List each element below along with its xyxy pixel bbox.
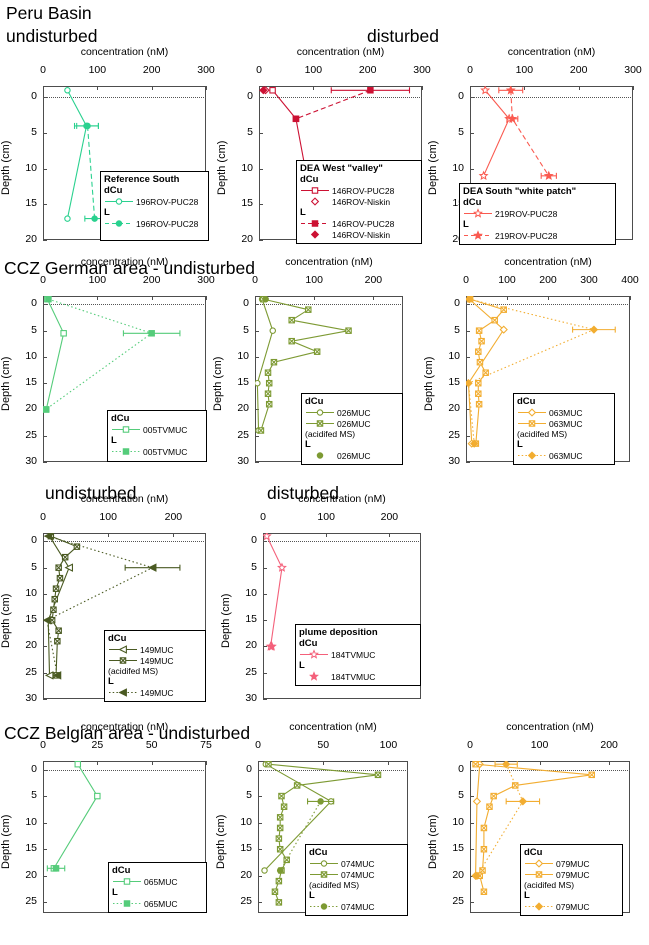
y-tick-mark	[255, 462, 259, 463]
y-tick-label: 10	[233, 587, 257, 599]
y-tick-label: 10	[440, 816, 464, 828]
y-tick-label: 30	[13, 692, 37, 704]
legend-entry: 063MUC	[517, 418, 611, 429]
x-tick-label: 300	[400, 64, 444, 76]
legend-entry-label: 149MUC	[138, 688, 174, 698]
legend-entry-label: 005TVMUC	[141, 425, 187, 435]
y-tick-mark	[43, 462, 47, 463]
legend-group-header: L	[463, 219, 612, 230]
legend-group-header: L	[517, 439, 611, 450]
y-tick-mark	[263, 699, 267, 700]
x-tick-label: 100	[86, 511, 130, 523]
legend-entry: 065MUC	[112, 876, 203, 887]
legend-entry: 074MUC	[309, 869, 404, 880]
legend-entry: 065MUC	[112, 898, 203, 909]
legend-marker-icon	[108, 687, 138, 698]
x-tick-label: 100	[75, 64, 119, 76]
y-tick-label: 30	[13, 455, 37, 467]
legend-note: (acidifed MS)	[524, 880, 619, 890]
sediment-water-interface-line	[470, 97, 633, 98]
legend-entry-label: 196ROV-PUC28	[134, 219, 198, 229]
x-tick-label: 0	[21, 739, 65, 751]
y-tick-label: 15	[440, 842, 464, 854]
x-tick-label: 100	[366, 739, 410, 751]
x-tick-label: 200	[367, 511, 411, 523]
legend-entry-label: 079MUC	[554, 902, 590, 912]
legend-entry-label: 074MUC	[339, 859, 375, 869]
legend-marker-icon	[517, 407, 547, 418]
legend-entry-label: 063MUC	[547, 451, 583, 461]
legend-group-header: L	[305, 439, 399, 450]
legend-marker-icon	[300, 229, 330, 240]
y-tick-label: 15	[436, 376, 460, 388]
y-tick-mark	[259, 240, 263, 241]
legend-marker-icon	[305, 407, 335, 418]
legend-entry-label: 146ROV-Niskin	[330, 197, 390, 207]
legend-marker-icon	[300, 218, 330, 229]
y-tick-label: 15	[225, 376, 249, 388]
y-tick-label: 5	[229, 126, 253, 138]
x-tick-label: 0	[21, 274, 65, 286]
x-axis-title: concentration (nM)	[3, 46, 246, 58]
y-tick-label: 20	[229, 233, 253, 245]
legend-group-header: dCu	[305, 396, 399, 407]
y-tick-label: 15	[228, 842, 252, 854]
x-tick-mark	[206, 86, 207, 90]
legend-title: DEA West "valley"	[300, 163, 418, 174]
y-tick-label: 5	[436, 324, 460, 336]
legend-entry-label: 005TVMUC	[141, 447, 187, 457]
legend-group-header: L	[108, 676, 202, 687]
legend-entry: 079MUC	[524, 869, 619, 880]
legend-entry-label: 146ROV-PUC28	[330, 219, 394, 229]
legend-marker-icon	[112, 876, 142, 887]
x-tick-label: 0	[237, 64, 281, 76]
y-tick-label: 5	[13, 561, 37, 573]
legend-entry-label: 026MUC	[335, 419, 371, 429]
legend-group-header: L	[104, 207, 205, 218]
sediment-water-interface-line	[258, 770, 408, 771]
legend-group-header: L	[112, 887, 203, 898]
x-tick-label: 0	[21, 511, 65, 523]
y-tick-label: 30	[225, 455, 249, 467]
x-tick-mark	[206, 296, 207, 300]
y-tick-label: 0	[440, 90, 464, 102]
legend-note: (acidifed MS)	[517, 429, 611, 439]
x-tick-label: 50	[301, 739, 345, 751]
legend-entry: 063MUC	[517, 450, 611, 461]
legend-entry: 146ROV-PUC28	[300, 185, 418, 196]
legend-marker-icon	[104, 196, 134, 207]
legend-group-header: dCu	[111, 413, 203, 424]
y-axis-title: Depth (cm)	[216, 141, 228, 195]
legend-title: DEA South "white patch"	[463, 186, 612, 197]
y-tick-label: 25	[13, 895, 37, 907]
x-tick-label: 0	[448, 739, 492, 751]
x-axis-title: concentration (nM)	[219, 46, 462, 58]
x-tick-label: 200	[130, 64, 174, 76]
y-tick-label: 0	[440, 763, 464, 775]
legend-entry-label: 149MUC	[138, 645, 174, 655]
legend-marker-icon	[111, 424, 141, 435]
y-tick-mark	[43, 240, 47, 241]
y-tick-label: 0	[229, 90, 253, 102]
x-tick-label: 300	[611, 64, 649, 76]
legend-entry: 219ROV-PUC28	[463, 230, 612, 241]
x-tick-label: 300	[567, 274, 611, 286]
y-tick-label: 0	[436, 297, 460, 309]
sediment-water-interface-line	[43, 770, 206, 771]
y-tick-label: 25	[13, 429, 37, 441]
y-tick-label: 5	[13, 126, 37, 138]
legend-entry: 079MUC	[524, 858, 619, 869]
legend-note: (acidifed MS)	[309, 880, 404, 890]
legend-group-header: L	[299, 660, 417, 671]
legend-group-header: dCu	[463, 197, 612, 208]
y-tick-label: 20	[225, 402, 249, 414]
y-axis-title: Depth (cm)	[427, 815, 439, 869]
legend-entry: 146ROV-Niskin	[300, 229, 418, 240]
x-tick-label: 100	[518, 739, 562, 751]
x-tick-label: 50	[130, 739, 174, 751]
legend-entry-label: 146ROV-Niskin	[330, 230, 390, 240]
legend-marker-icon	[300, 196, 330, 207]
y-tick-label: 20	[436, 402, 460, 414]
x-tick-label: 300	[184, 274, 228, 286]
x-tick-label: 200	[346, 64, 390, 76]
y-tick-label: 20	[13, 639, 37, 651]
legend-marker-icon	[305, 450, 335, 461]
y-tick-label: 25	[440, 895, 464, 907]
y-axis-title: Depth (cm)	[423, 357, 435, 411]
y-tick-label: 15	[13, 613, 37, 625]
legend-marker-icon	[108, 655, 138, 666]
legend-title: plume deposition	[299, 627, 417, 638]
y-tick-label: 15	[229, 197, 253, 209]
y-tick-label: 25	[436, 429, 460, 441]
y-tick-label: 25	[225, 429, 249, 441]
y-tick-label: 0	[13, 297, 37, 309]
legend-entry: 005TVMUC	[111, 446, 203, 457]
legend-entry: 026MUC	[305, 418, 399, 429]
legend-marker-icon	[524, 869, 554, 880]
y-tick-label: 5	[440, 789, 464, 801]
y-tick-label: 25	[228, 895, 252, 907]
legend-ccz-belgian-079muc: dCu079MUC079MUC(acidifed MS)L079MUC	[520, 844, 623, 916]
legend-marker-icon	[463, 208, 493, 219]
legend-marker-icon	[309, 901, 339, 912]
y-tick-label: 10	[13, 587, 37, 599]
y-tick-label: 20	[228, 869, 252, 881]
legend-entry: 184TVMUC	[299, 649, 417, 660]
y-tick-label: 20	[440, 869, 464, 881]
x-tick-label: 0	[21, 64, 65, 76]
legend-marker-icon	[517, 450, 547, 461]
legend-entry: 026MUC	[305, 407, 399, 418]
x-axis-title: concentration (nM)	[3, 721, 246, 733]
x-tick-label: 200	[351, 274, 395, 286]
x-tick-label: 100	[75, 274, 119, 286]
sediment-water-interface-line	[470, 770, 630, 771]
y-axis-title: Depth (cm)	[427, 141, 439, 195]
x-tick-label: 0	[233, 274, 277, 286]
sediment-water-interface-line	[255, 304, 403, 305]
y-axis-title: Depth (cm)	[212, 357, 224, 411]
y-tick-label: 5	[228, 789, 252, 801]
y-tick-label: 10	[13, 816, 37, 828]
legend-entry-label: 079MUC	[554, 870, 590, 880]
y-tick-label: 25	[233, 666, 257, 678]
y-tick-label: 15	[233, 613, 257, 625]
x-tick-label: 0	[241, 511, 285, 523]
y-tick-label: 15	[13, 842, 37, 854]
y-tick-label: 10	[13, 162, 37, 174]
legend-marker-icon	[463, 230, 493, 241]
y-tick-label: 0	[228, 763, 252, 775]
legend-entry: 149MUC	[108, 655, 202, 666]
x-tick-label: 200	[587, 739, 631, 751]
x-tick-label: 25	[75, 739, 119, 751]
y-axis-title: Depth (cm)	[220, 594, 232, 648]
legend-marker-icon	[517, 418, 547, 429]
legend-marker-icon	[299, 671, 329, 682]
legend-entry-label: 065MUC	[142, 899, 178, 909]
x-tick-label: 100	[502, 64, 546, 76]
x-tick-label: 0	[444, 274, 488, 286]
legend-ccz-german-005tvmuc: dCu005TVMUCL005TVMUC	[107, 410, 207, 462]
y-tick-label: 10	[225, 350, 249, 362]
x-axis-title: concentration (nM)	[430, 721, 649, 733]
x-tick-label: 300	[184, 64, 228, 76]
y-tick-label: 10	[436, 350, 460, 362]
y-tick-label: 0	[233, 534, 257, 546]
sediment-water-interface-line	[466, 304, 630, 305]
legend-entry: 074MUC	[309, 901, 404, 912]
y-tick-label: 5	[13, 789, 37, 801]
legend-entry: 063MUC	[517, 407, 611, 418]
legend-entry: 146ROV-PUC28	[300, 218, 418, 229]
legend-entry: 146ROV-Niskin	[300, 196, 418, 207]
legend-marker-icon	[299, 649, 329, 660]
x-tick-label: 200	[526, 274, 570, 286]
y-tick-label: 15	[13, 197, 37, 209]
x-tick-label: 200	[130, 274, 174, 286]
y-tick-label: 10	[13, 350, 37, 362]
legend-entry-label: 063MUC	[547, 419, 583, 429]
x-tick-label: 0	[448, 64, 492, 76]
legend-entry: 026MUC	[305, 450, 399, 461]
x-tick-mark	[206, 761, 207, 765]
legend-entry-label: 026MUC	[335, 408, 371, 418]
legend-entry: 005TVMUC	[111, 424, 203, 435]
sediment-water-interface-line	[43, 97, 206, 98]
x-tick-label: 100	[292, 274, 336, 286]
sediment-water-interface-line	[43, 541, 206, 542]
sediment-water-interface-line	[263, 541, 421, 542]
y-tick-label: 10	[229, 162, 253, 174]
legend-entry-label: 184TVMUC	[329, 672, 375, 682]
y-axis-title: Depth (cm)	[0, 357, 12, 411]
legend-entry-label: 219ROV-PUC28	[493, 231, 557, 241]
legend-note: (acidifed MS)	[305, 429, 399, 439]
legend-ccz-german-026muc: dCu026MUC026MUC(acidifed MS)L026MUC	[301, 393, 403, 465]
x-tick-mark	[633, 86, 634, 90]
x-axis-title: concentration (nM)	[215, 256, 443, 268]
legend-marker-icon	[300, 185, 330, 196]
x-tick-label: 200	[557, 64, 601, 76]
x-tick-label: 0	[236, 739, 280, 751]
legend-marker-icon	[111, 446, 141, 457]
y-tick-label: 10	[228, 816, 252, 828]
legend-entry-label: 149MUC	[138, 656, 174, 666]
x-tick-label: 100	[485, 274, 529, 286]
legend-entry: 219ROV-PUC28	[463, 208, 612, 219]
legend-group-header: L	[309, 890, 404, 901]
x-axis-title: concentration (nM)	[430, 46, 649, 58]
legend-entry: 184TVMUC	[299, 671, 417, 682]
y-tick-label: 25	[13, 666, 37, 678]
y-axis-title: Depth (cm)	[0, 815, 12, 869]
x-axis-title: concentration (nM)	[218, 721, 448, 733]
y-tick-label: 10	[440, 162, 464, 174]
y-tick-label: 30	[233, 692, 257, 704]
x-tick-label: 75	[184, 739, 228, 751]
y-axis-title: Depth (cm)	[215, 815, 227, 869]
legend-ccz-german-184tvmuc: plume depositiondCu184TVMUCL184TVMUC	[295, 624, 421, 686]
legend-entry-label: 219ROV-PUC28	[493, 209, 557, 219]
legend-group-header: dCu	[309, 847, 404, 858]
legend-marker-icon	[309, 869, 339, 880]
legend-entry-label: 074MUC	[339, 870, 375, 880]
legend-ccz-belgian-074muc: dCu074MUC074MUC(acidifed MS)L074MUC	[305, 844, 408, 916]
x-tick-mark	[630, 296, 631, 300]
y-tick-label: 20	[13, 402, 37, 414]
x-tick-label: 100	[304, 511, 348, 523]
legend-ccz-german-149muc: dCu149MUC149MUC(acidifed MS)L149MUC	[104, 630, 206, 702]
x-tick-label: 200	[151, 511, 195, 523]
y-tick-mark	[43, 699, 47, 700]
y-axis-title: Depth (cm)	[0, 594, 12, 648]
sediment-water-interface-line	[259, 97, 422, 98]
legend-entry: 074MUC	[309, 858, 404, 869]
legend-group-header: dCu	[104, 185, 205, 196]
legend-entry-label: 065MUC	[142, 877, 178, 887]
x-axis-title: concentration (nM)	[426, 256, 649, 268]
legend-entry-label: 079MUC	[554, 859, 590, 869]
legend-entry-label: 026MUC	[335, 451, 371, 461]
y-tick-label: 5	[440, 126, 464, 138]
legend-group-header: L	[300, 207, 418, 218]
y-tick-label: 5	[225, 324, 249, 336]
legend-peru-dea-south-white-patch: DEA South "white patch"dCu219ROV-PUC28L2…	[459, 183, 616, 245]
legend-marker-icon	[104, 218, 134, 229]
y-tick-label: 0	[13, 90, 37, 102]
legend-marker-icon	[524, 858, 554, 869]
y-tick-label: 0	[13, 534, 37, 546]
legend-entry: 196ROV-PUC28	[104, 218, 205, 229]
x-axis-title: concentration (nM)	[3, 493, 246, 505]
legend-peru-dea-west-valley: DEA West "valley"dCu146ROV-PUC28146ROV-N…	[296, 160, 422, 244]
legend-group-header: L	[111, 435, 203, 446]
legend-group-header: dCu	[108, 633, 202, 644]
legend-marker-icon	[309, 858, 339, 869]
x-axis-title: concentration (nM)	[223, 493, 461, 505]
legend-marker-icon	[108, 644, 138, 655]
y-tick-mark	[466, 462, 470, 463]
sediment-water-interface-line	[43, 304, 206, 305]
y-axis-title: Depth (cm)	[0, 141, 12, 195]
y-tick-label: 0	[225, 297, 249, 309]
legend-entry-label: 063MUC	[547, 408, 583, 418]
legend-entry: 149MUC	[108, 687, 202, 698]
column-title-undisturbed-row1: undisturbed	[6, 26, 97, 46]
y-tick-label: 15	[13, 376, 37, 388]
legend-entry-label: 074MUC	[339, 902, 375, 912]
legend-title: Reference South	[104, 174, 205, 185]
legend-entry-label: 196ROV-PUC28	[134, 197, 198, 207]
legend-group-header: dCu	[299, 638, 417, 649]
section-title-peru-basin: Peru Basin	[6, 3, 92, 23]
legend-group-header: dCu	[112, 865, 203, 876]
legend-marker-icon	[305, 418, 335, 429]
y-tick-label: 0	[13, 763, 37, 775]
x-tick-label: 400	[608, 274, 649, 286]
legend-entry-label: 184TVMUC	[329, 650, 375, 660]
y-tick-label: 20	[13, 233, 37, 245]
legend-ccz-belgian-065muc: dCu065MUCL065MUC	[108, 862, 207, 913]
y-tick-label: 30	[436, 455, 460, 467]
legend-entry: 196ROV-PUC28	[104, 196, 205, 207]
legend-peru-reference-south: Reference SouthdCu196ROV-PUC28L196ROV-PU…	[100, 171, 209, 241]
legend-group-header: dCu	[524, 847, 619, 858]
y-tick-label: 5	[233, 561, 257, 573]
legend-group-header: dCu	[300, 174, 418, 185]
legend-note: (acidifed MS)	[108, 666, 202, 676]
legend-marker-icon	[524, 901, 554, 912]
legend-ccz-german-063muc: dCu063MUC063MUC(acidifed MS)L063MUC	[513, 393, 615, 465]
legend-entry-label: 146ROV-PUC28	[330, 186, 394, 196]
x-tick-label: 100	[291, 64, 335, 76]
x-axis-title: concentration (nM)	[3, 256, 246, 268]
y-tick-label: 20	[13, 869, 37, 881]
legend-entry: 079MUC	[524, 901, 619, 912]
legend-group-header: L	[524, 890, 619, 901]
legend-marker-icon	[112, 898, 142, 909]
x-tick-mark	[422, 86, 423, 90]
y-tick-label: 20	[233, 639, 257, 651]
legend-group-header: dCu	[517, 396, 611, 407]
legend-entry: 149MUC	[108, 644, 202, 655]
y-tick-label: 5	[13, 324, 37, 336]
column-title-disturbed-row1: disturbed	[367, 26, 439, 46]
